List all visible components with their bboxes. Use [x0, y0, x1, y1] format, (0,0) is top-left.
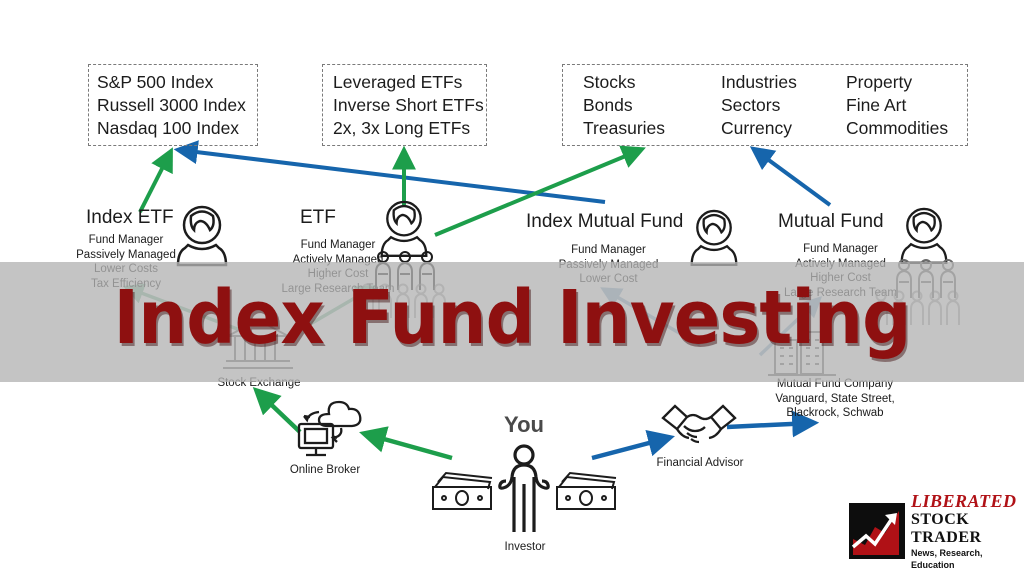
- fund-manager-icon: [898, 205, 950, 263]
- logo-line-1: LIBERATED: [911, 492, 1017, 511]
- assets-box-item: Treasuries: [583, 117, 721, 140]
- etf-title: ETF: [300, 207, 336, 229]
- assets-box-item: Industries: [721, 71, 846, 94]
- investor-icon: [500, 444, 548, 536]
- leveraged-etf-box-column-1: Leveraged ETFs Inverse Short ETFs 2x, 3x…: [333, 69, 484, 141]
- arrow-index-etf-to-index-box: [140, 153, 170, 212]
- index-box-item: Nasdaq 100 Index: [97, 117, 246, 140]
- financial-advisor-label: Financial Advisor: [640, 456, 760, 471]
- banner-title: Index Fund Investing: [36, 281, 988, 355]
- money-icon-right: [554, 470, 620, 512]
- leveraged-etf-box-item: Leveraged ETFs: [333, 71, 484, 94]
- fund-manager-icon: [174, 203, 230, 265]
- arrow-mutual-fund-to-assets-box: [755, 150, 830, 205]
- leveraged-etf-box: Leveraged ETFs Inverse Short ETFs 2x, 3x…: [322, 64, 487, 146]
- assets-box-item: Currency: [721, 117, 846, 140]
- online-broker-icon: [283, 398, 365, 460]
- assets-box-column-2: Industries Sectors Currency: [721, 69, 846, 141]
- arrow-investor-to-broker: [366, 434, 452, 458]
- leveraged-etf-box-item: 2x, 3x Long ETFs: [333, 117, 484, 140]
- index-box: S&P 500 Index Russell 3000 Index Nasdaq …: [88, 64, 258, 146]
- financial-advisor-icon: [660, 400, 738, 448]
- leveraged-etf-box-item: Inverse Short ETFs: [333, 94, 484, 117]
- assets-box-column-3: Property Fine Art Commodities: [846, 69, 966, 141]
- mutual-fund-company-names-1: Vanguard, State Street,: [742, 392, 928, 407]
- assets-box-item: Commodities: [846, 117, 966, 140]
- index-box-item: Russell 3000 Index: [97, 94, 246, 117]
- money-icon-left: [430, 470, 496, 512]
- mutual-fund-company-names-2: Blackrock, Schwab: [742, 406, 928, 421]
- assets-box-item: Fine Art: [846, 94, 966, 117]
- arrow-index-mutual-fund-to-index-box: [180, 150, 605, 202]
- arrow-investor-to-advisor: [592, 438, 668, 458]
- index-box-column-1: S&P 500 Index Russell 3000 Index Nasdaq …: [97, 69, 246, 141]
- assets-box: Stocks Bonds Treasuries Industries Secto…: [562, 64, 968, 146]
- you-label: You: [460, 418, 588, 433]
- assets-box-item: Sectors: [721, 94, 846, 117]
- liberated-stock-trader-logo[interactable]: LIBERATED STOCK TRADER News, Research, E…: [849, 500, 1015, 562]
- mutual-fund-company-label: Mutual Fund Company Vanguard, State Stre…: [742, 377, 928, 421]
- fund-manager-icon: [688, 207, 740, 265]
- assets-box-column-1: Stocks Bonds Treasuries: [583, 69, 721, 141]
- assets-box-item: Stocks: [583, 71, 721, 94]
- assets-box-item: Property: [846, 71, 966, 94]
- logo-line-3: News, Research, Education: [911, 547, 1017, 571]
- diagram-canvas: S&P 500 Index Russell 3000 Index Nasdaq …: [0, 0, 1024, 576]
- online-broker-label: Online Broker: [266, 463, 384, 478]
- arrow-advisor-to-fund-company: [727, 423, 812, 427]
- index-box-item: S&P 500 Index: [97, 71, 246, 94]
- assets-box-item: Bonds: [583, 94, 721, 117]
- fund-manager-icon: [378, 198, 430, 256]
- index-mutual-fund-attr: Fund Manager: [526, 243, 691, 258]
- index-etf-title: Index ETF: [86, 207, 174, 229]
- logo-line-2: STOCK TRADER: [911, 511, 1017, 547]
- logo-chart-icon: [849, 503, 905, 559]
- investor-label: Investor: [466, 540, 584, 555]
- mutual-fund-title: Mutual Fund: [778, 211, 884, 233]
- index-mutual-fund-title: Index Mutual Fund: [526, 211, 683, 233]
- logo-text: LIBERATED STOCK TRADER News, Research, E…: [911, 492, 1017, 571]
